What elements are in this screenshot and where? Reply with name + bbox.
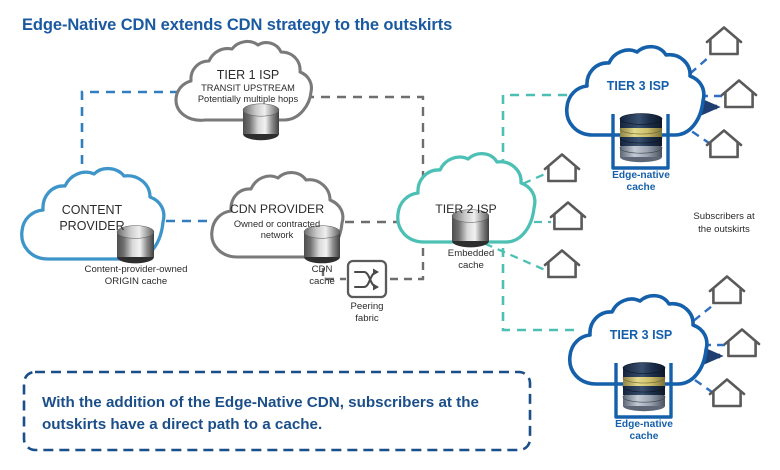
peering-fabric-caption-1: Peering bbox=[333, 302, 401, 313]
tier2-cache-caption-1: Embedded bbox=[430, 249, 512, 260]
house-icon bbox=[707, 28, 741, 55]
subscriber-houses-tier2 bbox=[545, 155, 585, 278]
cdn-provider-label: CDN PROVIDER bbox=[215, 203, 339, 217]
tier1-cache-cylinder bbox=[243, 104, 279, 140]
node-tier3-isp-bottom[interactable] bbox=[570, 277, 759, 418]
diagram-canvas: Edge-Native CDN extends CDN strategy to … bbox=[0, 0, 780, 470]
tier2-cache-caption-2: cache bbox=[430, 261, 512, 272]
tier3-top-cache-caption-1: Edge-native bbox=[596, 170, 686, 182]
content-provider-cache-caption-2: ORIGIN cache bbox=[50, 277, 222, 288]
house-icon bbox=[545, 155, 579, 182]
house-icon bbox=[551, 203, 585, 230]
content-provider-cache-caption-1: Content-provider-owned bbox=[50, 265, 222, 276]
tier2-label: TIER 2 ISP bbox=[413, 203, 519, 217]
tier1-label: TIER 1 ISP bbox=[196, 68, 300, 82]
node-cdn-provider[interactable] bbox=[212, 173, 343, 264]
subscribers-annotation-line-1: Subscribers at bbox=[672, 212, 776, 223]
tier1-sublabel-2: Potentially multiple hops bbox=[180, 94, 316, 104]
subscribers-annotation-line-2: the outskirts bbox=[672, 225, 776, 236]
tier3-top-label: TIER 3 ISP bbox=[588, 79, 688, 93]
page-title: Edge-Native CDN extends CDN strategy to … bbox=[22, 16, 452, 34]
house-icon bbox=[710, 277, 744, 304]
link-content-provider-to-tier1 bbox=[82, 92, 186, 180]
tier3-bottom-label: TIER 3 ISP bbox=[591, 328, 691, 342]
cdn-provider-sublabel-2: network bbox=[215, 230, 339, 240]
edge-native-cache-top bbox=[613, 114, 668, 168]
link-tier1-to-tier2 bbox=[305, 97, 423, 188]
content-provider-label-2: PROVIDER bbox=[42, 219, 142, 233]
node-tier3-isp-top[interactable] bbox=[567, 28, 756, 169]
tier3-bottom-cache-caption-2: cache bbox=[599, 431, 689, 443]
tier1-sublabel-1: TRANSIT UPSTREAM bbox=[186, 83, 310, 93]
cdn-cache-caption-2: cache bbox=[288, 277, 356, 288]
node-tier2-isp[interactable] bbox=[398, 154, 535, 248]
peering-fabric-caption-2: fabric bbox=[333, 314, 401, 325]
tier3-bottom-cache-caption-1: Edge-native bbox=[599, 419, 689, 431]
house-icon bbox=[725, 330, 759, 357]
house-icon bbox=[707, 131, 741, 158]
house-icon bbox=[710, 380, 744, 407]
house-icon bbox=[722, 81, 756, 108]
tier3-top-cache-caption-2: cache bbox=[596, 182, 686, 194]
content-provider-label-1: CONTENT bbox=[42, 203, 142, 217]
cdn-cache-caption-1: CDN bbox=[288, 265, 356, 276]
callout-text: With the addition of the Edge-Native CDN… bbox=[42, 392, 532, 435]
cdn-provider-sublabel-1: Owned or contracted bbox=[215, 219, 339, 229]
edge-native-cache-bottom bbox=[616, 363, 671, 417]
house-icon bbox=[545, 251, 579, 278]
